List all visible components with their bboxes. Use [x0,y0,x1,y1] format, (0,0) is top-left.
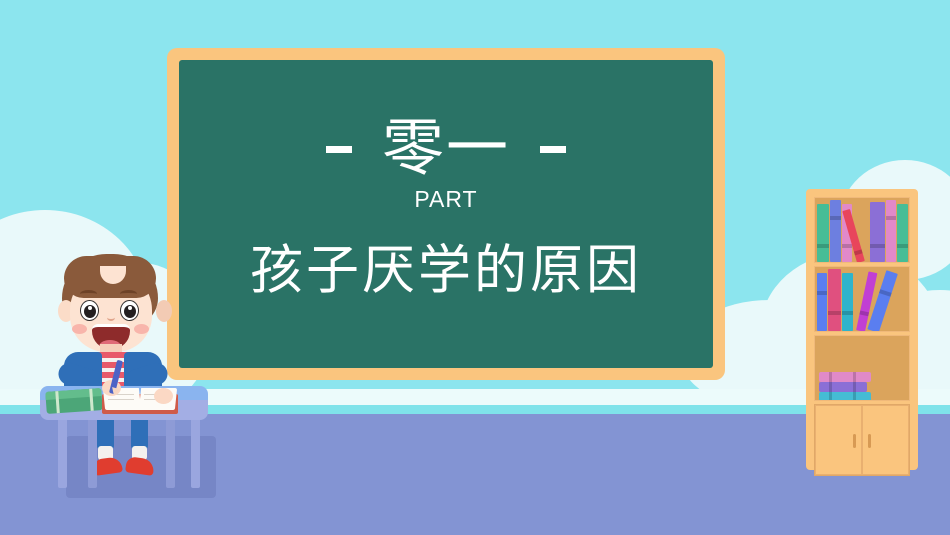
book-spine [830,200,841,262]
book-band [817,244,829,248]
book-band [829,392,832,401]
chalkboard-frame: 零一 PART 孩子厌学的原因 [167,48,725,380]
book-band [879,289,892,297]
section-subtitle: 孩子厌学的原因 [179,228,713,304]
bookshelf [806,189,918,470]
book-band [829,372,832,382]
book-band [817,291,827,295]
stacked-book [819,372,871,382]
book-band [853,392,856,401]
book-spine [828,269,841,331]
eye-right [120,300,139,321]
part-label: PART [414,186,477,213]
cabinet-handle-icon [853,434,856,448]
book-band [859,311,869,317]
book-spine [870,202,885,262]
section-number: 零一 [382,118,510,180]
student-scene [28,240,218,490]
cheek-left [72,324,87,334]
book-spine [886,200,896,262]
book-band [842,244,852,248]
chalkboard-surface: 零一 PART 孩子厌学的原因 [179,60,713,368]
desk-leg [166,418,175,488]
cheek-right [134,324,149,334]
stacked-book [819,392,871,401]
book-band [842,311,853,315]
bottom-shelf [814,335,910,401]
book-band [897,244,908,248]
book-band [853,382,856,392]
slide-canvas: 零一 PART 孩子厌学的原因 [0,0,950,535]
book-spine [817,204,829,262]
book-text-line [108,399,134,400]
cabinet-door-left[interactable] [815,405,862,475]
ear-right [156,300,172,322]
hand-right [154,388,173,404]
nose [107,314,115,321]
desk-leg [88,418,97,488]
desk-leg [58,418,67,488]
top-shelf [814,197,910,263]
eye-glint [128,306,132,310]
eye-glint [88,306,92,310]
stacked-book [819,382,867,392]
book-band [828,311,841,315]
eyebrow-left [80,290,97,298]
book-band [829,382,832,392]
book-band [853,372,856,382]
cabinet-handle-icon [868,434,871,448]
middle-shelf [814,266,910,332]
book-band [830,216,841,220]
desk-leg [191,418,200,488]
book-band [870,244,885,248]
book-spine [842,273,853,331]
cabinet-door-right[interactable] [862,405,909,475]
eye-left [80,300,99,321]
section-title-row: 零一 [179,118,713,180]
eyebrow-right [120,290,137,298]
book-spine [817,273,827,331]
book-band [886,216,896,220]
book-band [854,249,863,255]
book-spine [897,204,908,262]
green-book [45,388,102,414]
right-dash-icon [540,146,566,153]
cabinet[interactable] [814,404,910,476]
left-dash-icon [326,146,352,153]
